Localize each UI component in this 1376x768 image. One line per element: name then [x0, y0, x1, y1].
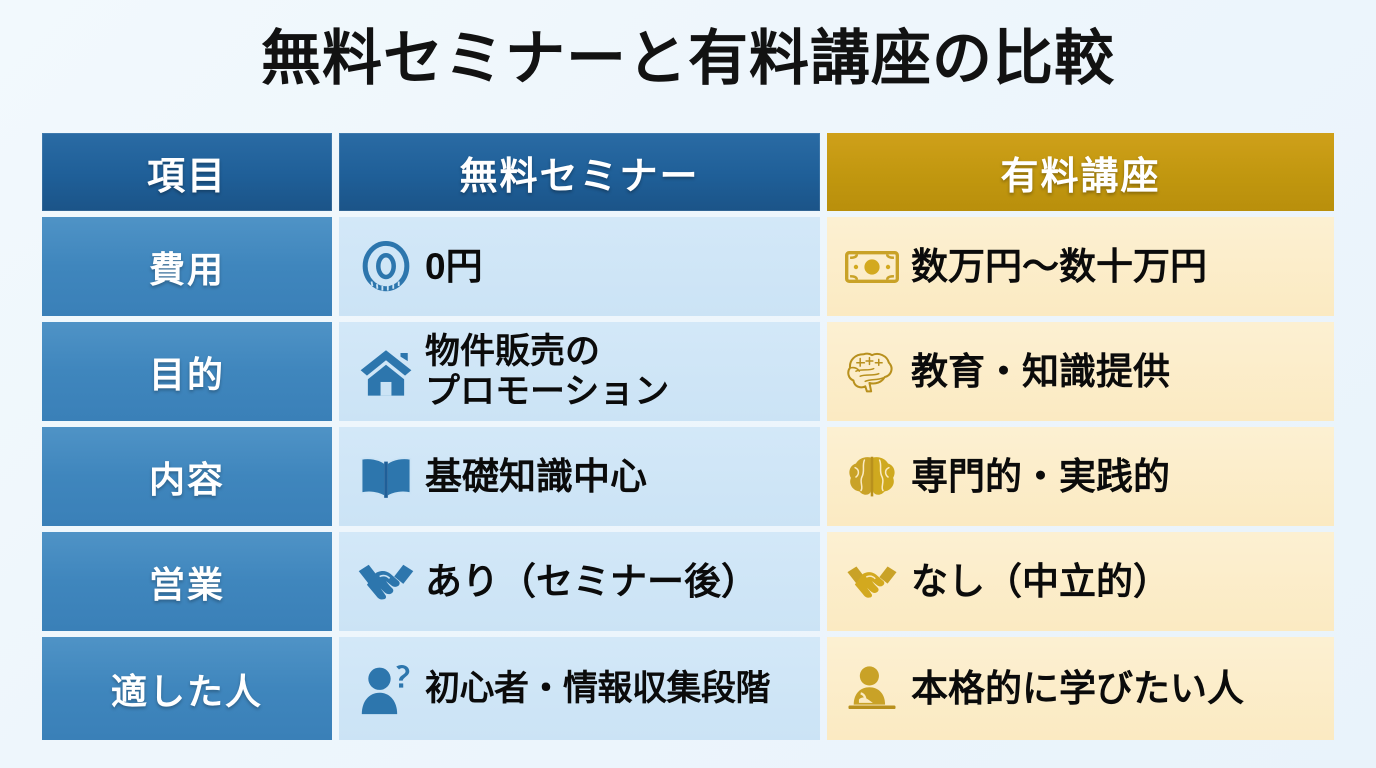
table-row: 営業 あり（セミナー後） な	[42, 532, 1334, 631]
row-label-cell: 費用	[42, 217, 332, 316]
row-free-value: 0円	[425, 248, 483, 286]
row-free-cell: あり（セミナー後）	[339, 532, 820, 631]
row-paid-value: 本格的に学びたい人	[911, 670, 1244, 708]
table-row: 目的 物件販売のプロモーション	[42, 322, 1334, 421]
row-label-text: 内容	[149, 451, 225, 503]
coin-zero-icon	[355, 236, 417, 298]
header-cell-paid: 有料講座	[827, 133, 1334, 211]
row-free-value-line1: 物件販売の	[425, 332, 600, 371]
table-header-row: 項目 無料セミナー 有料講座	[42, 133, 1334, 211]
row-free-value: あり（セミナー後）	[425, 563, 758, 601]
handshake-icon	[355, 551, 417, 613]
row-label-cell: 営業	[42, 532, 332, 631]
brain-filled-icon	[845, 450, 899, 504]
open-book-icon	[355, 446, 417, 508]
header-cell-item: 項目	[42, 133, 332, 211]
comparison-table: 項目 無料セミナー 有料講座 費用	[42, 133, 1334, 740]
table-row: 適した人 初心者・情報収集段階	[42, 637, 1334, 740]
person-studying-icon	[845, 662, 899, 716]
header-cell-free: 無料セミナー	[339, 133, 820, 211]
row-paid-cell: 本格的に学びたい人	[827, 637, 1334, 740]
row-free-value: 初心者・情報収集段階	[425, 671, 770, 707]
house-icon	[355, 341, 417, 403]
row-label-text: 目的	[149, 346, 225, 398]
header-paid-label: 有料講座	[1000, 145, 1160, 200]
table-row: 内容 基礎知識中心	[42, 427, 1334, 526]
row-label-cell: 内容	[42, 427, 332, 526]
row-free-cell: 初心者・情報収集段階	[339, 637, 820, 740]
row-label-cell: 適した人	[42, 637, 332, 740]
row-free-value: 物件販売のプロモーション	[425, 332, 669, 410]
row-label-text: 適した人	[111, 663, 263, 715]
row-free-cell: 0円	[339, 217, 820, 316]
row-label-cell: 目的	[42, 322, 332, 421]
header-free-label: 無料セミナー	[459, 145, 699, 200]
banknote-icon	[845, 240, 899, 294]
row-paid-cell: 教育・知識提供	[827, 322, 1334, 421]
row-free-value: 基礎知識中心	[425, 458, 647, 496]
row-paid-value: 教育・知識提供	[911, 353, 1170, 391]
table-row: 費用 0円	[42, 217, 1334, 316]
row-paid-value: 専門的・実践的	[911, 458, 1170, 496]
row-paid-cell: なし（中立的）	[827, 532, 1334, 631]
header-item-label: 項目	[147, 145, 227, 200]
row-paid-cell: 専門的・実践的	[827, 427, 1334, 526]
row-free-cell: 物件販売のプロモーション	[339, 322, 820, 421]
row-free-cell: 基礎知識中心	[339, 427, 820, 526]
row-label-text: 費用	[149, 241, 225, 293]
row-free-value-line2: プロモーション	[425, 372, 669, 411]
page-title: 無料セミナーと有料講座の比較	[0, 22, 1376, 96]
brain-outline-icon	[845, 345, 899, 399]
row-paid-value: なし（中立的）	[911, 563, 1170, 601]
row-paid-value: 数万円〜数十万円	[911, 248, 1207, 286]
row-paid-cell: 数万円〜数十万円	[827, 217, 1334, 316]
row-label-text: 営業	[149, 556, 225, 608]
person-question-icon	[355, 658, 417, 720]
handshake-icon	[845, 555, 899, 609]
